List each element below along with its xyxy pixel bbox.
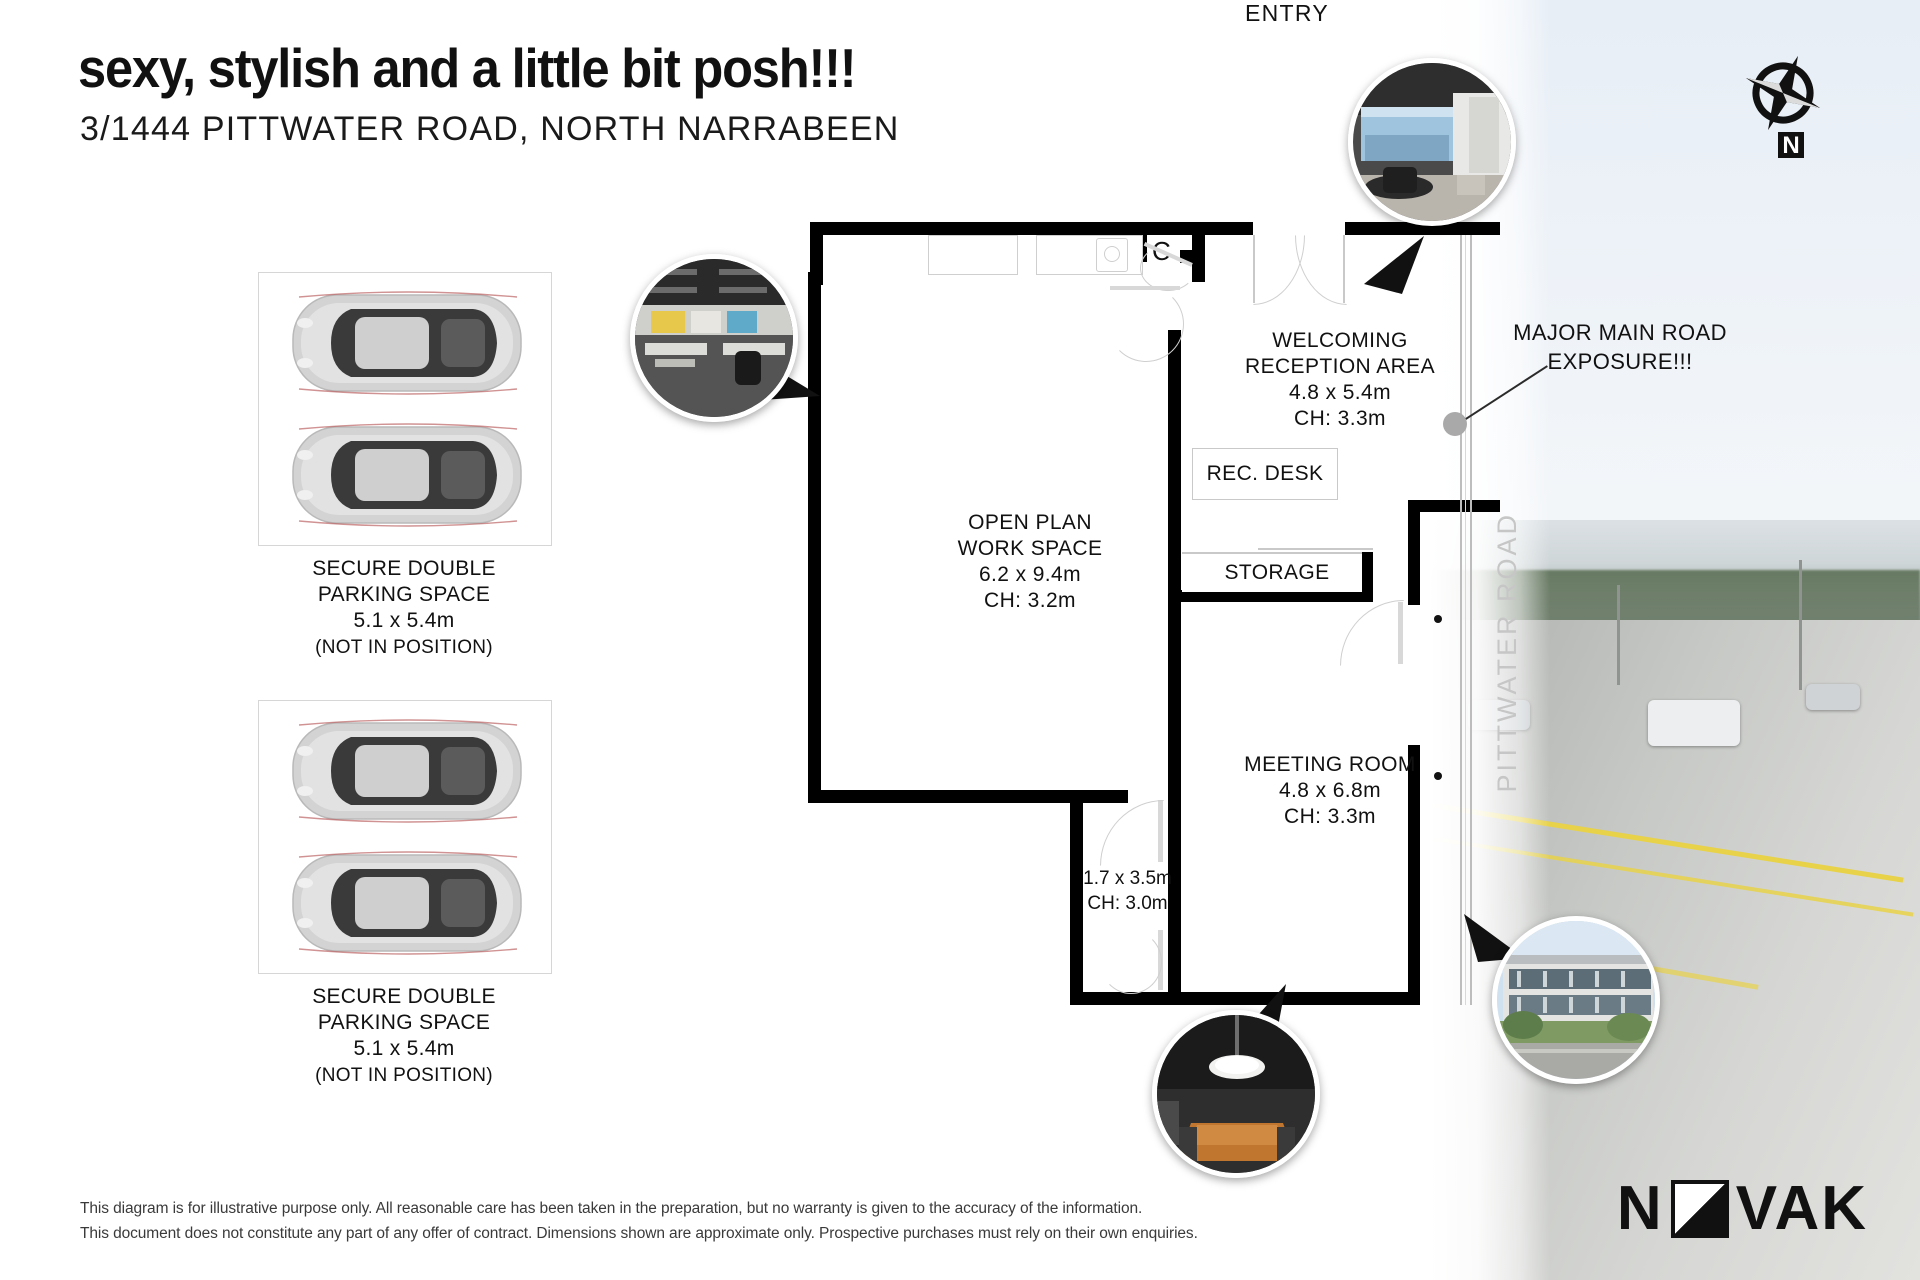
closet-door-arc xyxy=(1140,245,1196,291)
rec-desk-fixture: REC. DESK xyxy=(1192,448,1338,500)
small-room-dimensions: 1.7 x 3.5m xyxy=(1083,868,1172,889)
compass-rose-icon: N xyxy=(1738,48,1828,158)
open-plan-name-line2: WORK SPACE xyxy=(880,536,1180,562)
open-plan-ceiling-height: CH: 3.2m xyxy=(880,588,1180,614)
photo-building-exterior[interactable] xyxy=(1492,916,1660,1084)
photo-reception-interior[interactable] xyxy=(1348,58,1516,226)
parking-upper-line2: PARKING SPACE xyxy=(318,583,490,606)
room-label-meeting: MEETING ROOM 4.8 x 6.8m CH: 3.3m xyxy=(1180,752,1480,830)
major-road-anchor-dot xyxy=(1443,412,1467,436)
storage-shelf-line xyxy=(1258,548,1373,550)
parking-caption-upper: SECURE DOUBLE PARKING SPACE 5.1 x 5.4m (… xyxy=(234,556,574,661)
window-top-1 xyxy=(928,235,1018,275)
parking-cars-lower-icon xyxy=(259,701,551,973)
parking-cars-upper-icon xyxy=(259,273,551,545)
sink-basin xyxy=(1104,246,1120,262)
wall-top-left-stub xyxy=(810,222,932,235)
reception-name-line1: WELCOMING xyxy=(1190,328,1490,354)
meeting-ceiling-height: CH: 3.3m xyxy=(1180,804,1480,830)
storage-label: STORAGE xyxy=(1224,561,1329,585)
parking-box-lower xyxy=(258,700,552,974)
parking-upper-line1: SECURE DOUBLE xyxy=(312,557,496,580)
small-room-dimensions-block: 1.7 x 3.5m CH: 3.0m xyxy=(1070,866,1185,916)
meeting-name-line1: MEETING ROOM xyxy=(1180,752,1480,778)
photo-meeting-table[interactable] xyxy=(1152,1010,1320,1178)
logo-text-left: N xyxy=(1617,1178,1664,1240)
disclaimer-line-1: This diagram is for illustrative purpose… xyxy=(80,1196,1198,1221)
small-room-ceiling-height: CH: 3.0m xyxy=(1087,893,1167,914)
parking-box-upper xyxy=(258,272,552,546)
room-label-open-plan: OPEN PLAN WORK SPACE 6.2 x 9.4m CH: 3.2m xyxy=(880,510,1180,614)
parking-lower-note: (NOT IN POSITION) xyxy=(315,1065,493,1086)
floorplan-page: sexy, stylish and a little bit posh!!! 3… xyxy=(0,0,1920,1280)
wall-meeting-right-upper xyxy=(1408,500,1420,605)
door-corridor-lower-arc xyxy=(1100,930,1162,994)
parking-lower-line2: PARKING SPACE xyxy=(318,1011,490,1034)
wall-meeting-top xyxy=(1408,500,1500,512)
parking-lower-dimensions: 5.1 x 5.4m xyxy=(353,1037,454,1060)
wall-top-main xyxy=(925,222,1205,235)
open-plan-dimensions: 6.2 x 9.4m xyxy=(880,562,1180,588)
reception-dimensions: 4.8 x 5.4m xyxy=(1190,380,1490,406)
reception-name-line2: RECEPTION AREA xyxy=(1190,354,1490,380)
disclaimer-line-2: This document does not constitute any pa… xyxy=(80,1221,1198,1246)
novak-logo: N VAK xyxy=(1617,1178,1868,1240)
major-road-annotation: MAJOR MAIN ROAD EXPOSURE!!! xyxy=(1490,318,1750,376)
open-plan-name-line1: OPEN PLAN xyxy=(880,510,1180,536)
page-title: sexy, stylish and a little bit posh!!! xyxy=(78,36,855,100)
door-openplan-arc xyxy=(1108,286,1184,362)
logo-text-right: VAK xyxy=(1736,1178,1868,1240)
parking-caption-lower: SECURE DOUBLE PARKING SPACE 5.1 x 5.4m (… xyxy=(234,984,574,1089)
wall-entry-top-left xyxy=(1205,222,1253,235)
svg-text:N: N xyxy=(1782,132,1799,158)
logo-square-icon xyxy=(1671,1180,1729,1238)
photo-open-plan-interior[interactable] xyxy=(630,254,798,422)
parking-upper-note: (NOT IN POSITION) xyxy=(315,637,493,658)
photo-reception-tail xyxy=(1358,232,1428,302)
meeting-dimensions: 4.8 x 6.8m xyxy=(1180,778,1480,804)
storage-fixture: STORAGE xyxy=(1182,554,1372,592)
parking-upper-dimensions: 5.1 x 5.4m xyxy=(353,609,454,632)
major-road-line1: MAJOR MAIN ROAD xyxy=(1513,320,1727,345)
parking-lower-line1: SECURE DOUBLE xyxy=(312,985,496,1008)
major-road-line2: EXPOSURE!!! xyxy=(1548,349,1693,374)
property-address: 3/1444 PITTWATER ROAD, NORTH NARRABEEN xyxy=(80,110,900,149)
disclaimer: This diagram is for illustrative purpose… xyxy=(80,1196,1198,1246)
rec-desk-label: REC. DESK xyxy=(1207,462,1324,486)
wall-storage-right xyxy=(1362,552,1373,594)
street-name-label: PITTWATER ROAD xyxy=(1492,512,1523,793)
entry-label: ENTRY xyxy=(1245,0,1329,27)
door-hardware-dot-upper xyxy=(1434,615,1442,623)
